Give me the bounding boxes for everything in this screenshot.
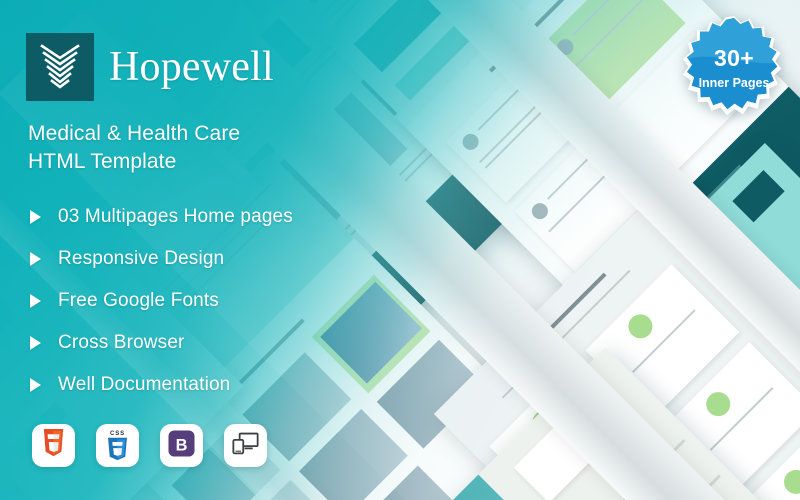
promo-content: Hopewell Medical & Health Care HTML Temp… <box>0 0 800 500</box>
feature-item-3: Cross Browser <box>30 322 293 364</box>
triangle-right-icon <box>30 378 41 392</box>
promo-banner: Hopewell Medical & Health Care HTML Temp… <box>0 0 800 500</box>
bootstrap-icon: B <box>168 430 195 462</box>
css3-icon: CSS <box>105 430 130 461</box>
tech-badge-html5 <box>32 424 75 467</box>
feature-label: Cross Browser <box>58 332 185 354</box>
feature-item-2: Free Google Fonts <box>30 280 293 322</box>
responsive-devices-icon <box>232 431 259 460</box>
svg-text:B: B <box>176 436 188 454</box>
triangle-right-icon <box>30 294 41 308</box>
tech-badge-responsive <box>224 424 267 467</box>
subtitle-line-2: HTML Template <box>28 148 240 176</box>
tech-badge-bootstrap: B <box>160 424 203 467</box>
chevron-stack-icon <box>26 33 94 101</box>
tech-badge-row: CSS B <box>32 424 267 467</box>
triangle-right-icon <box>30 210 41 224</box>
svg-text:CSS: CSS <box>110 431 125 437</box>
feature-item-4: Well Documentation <box>30 364 293 406</box>
triangle-right-icon <box>30 336 41 350</box>
feature-label: Well Documentation <box>58 374 230 396</box>
feature-item-1: Responsive Design <box>30 238 293 280</box>
tech-badge-css3: CSS <box>96 424 139 467</box>
html5-icon <box>41 429 66 462</box>
feature-label: Responsive Design <box>58 248 224 270</box>
brand-lockup: Hopewell <box>26 33 274 101</box>
triangle-right-icon <box>30 252 41 266</box>
brand-name: Hopewell <box>109 46 274 88</box>
feature-item-0: 03 Multipages Home pages <box>30 196 293 238</box>
inner-pages-badge: 30+ Inner Pages <box>682 16 786 120</box>
subtitle-line-1: Medical & Health Care <box>28 120 240 148</box>
feature-list: 03 Multipages Home pages Responsive Desi… <box>30 196 293 406</box>
feature-label: 03 Multipages Home pages <box>58 206 293 228</box>
page-subtitle: Medical & Health Care HTML Template <box>28 120 240 175</box>
feature-label: Free Google Fonts <box>58 290 219 312</box>
